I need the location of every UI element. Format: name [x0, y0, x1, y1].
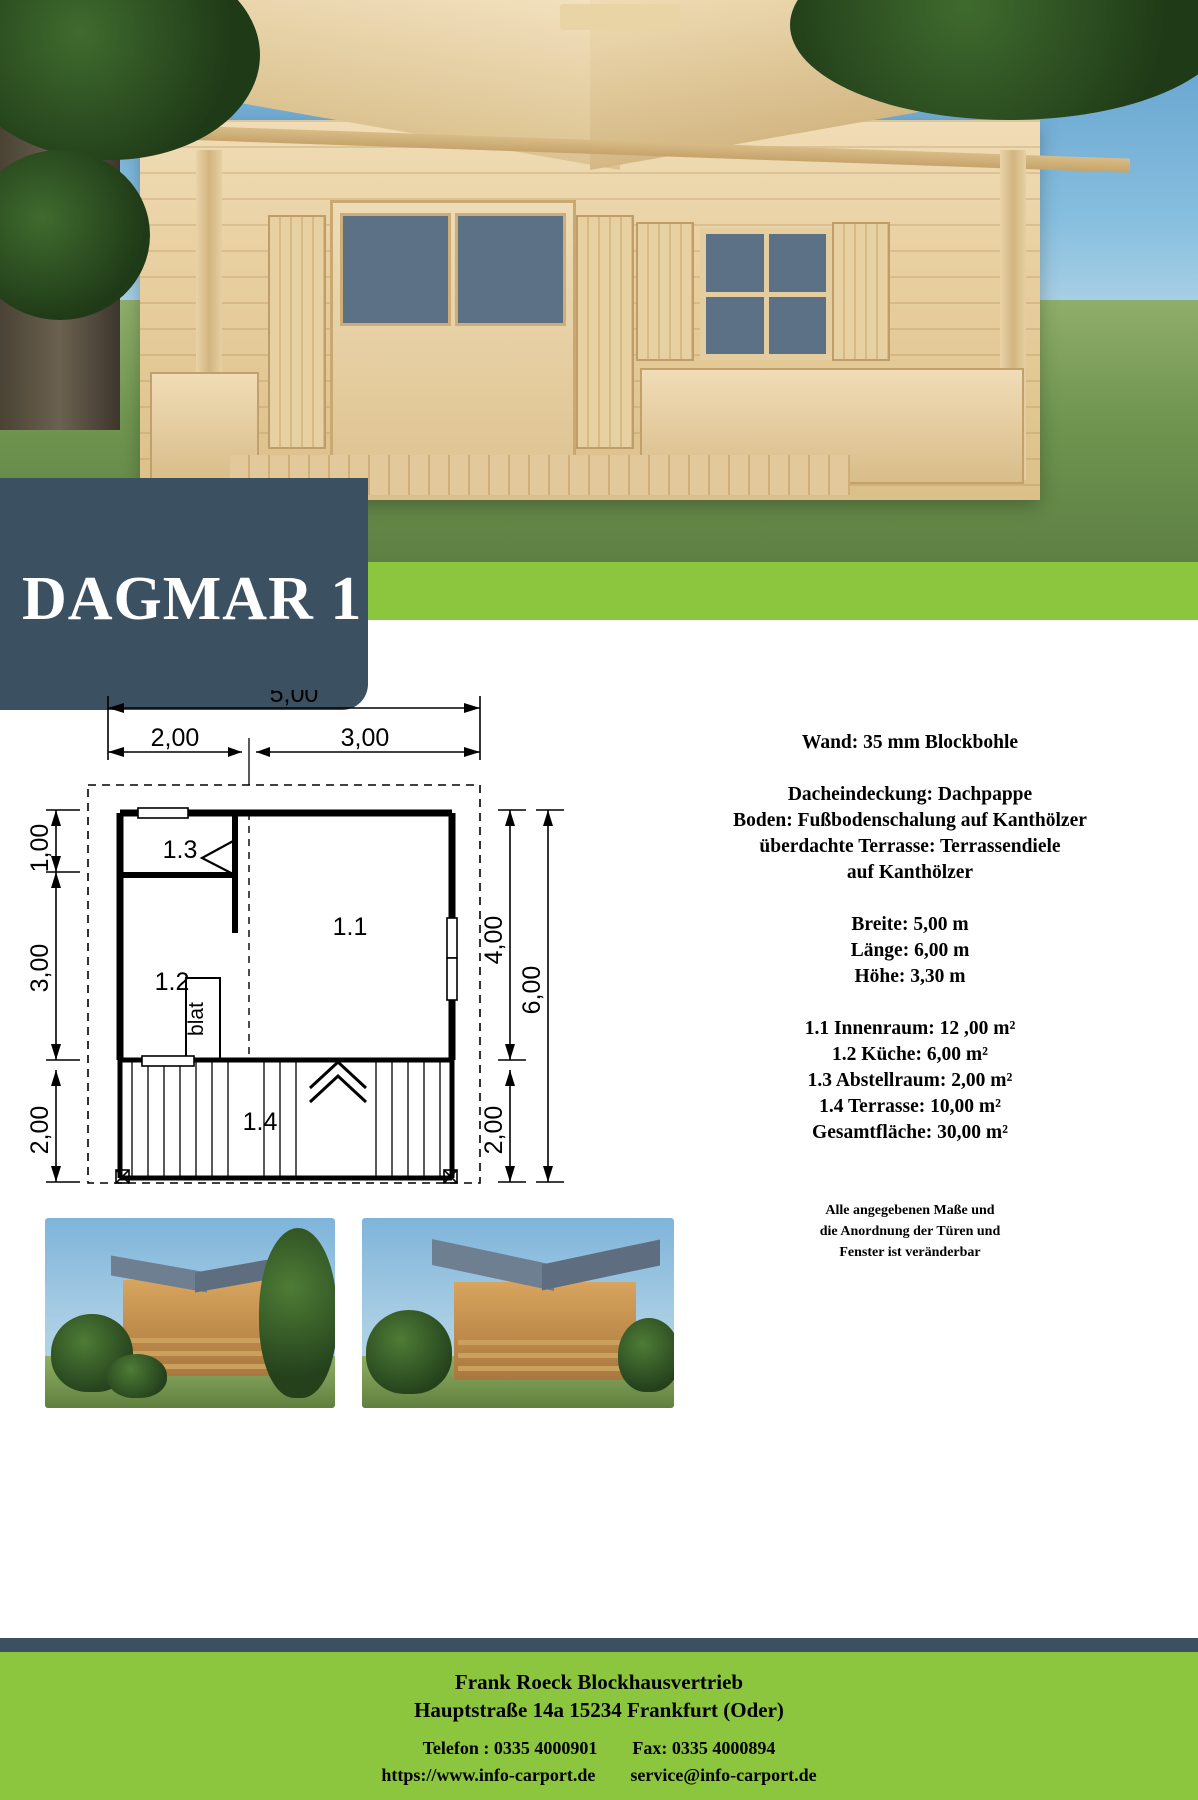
spec-total-area: Gesamtfläche: 30,00 m² — [640, 1120, 1180, 1146]
dim-right-terrace: 2,00 — [480, 1106, 508, 1155]
room-label-1-1: 1.1 — [333, 913, 368, 941]
thumb1-hedge — [259, 1228, 335, 1398]
door-shutter-left — [268, 215, 326, 449]
window-shutter-right — [832, 222, 890, 361]
dim-right-overall: 6,00 — [518, 966, 546, 1015]
spec-room-1-1: 1.1 Innenraum: 12 ,00 m² — [640, 1016, 1180, 1042]
spec-length: Länge: 6,00 m — [640, 938, 1180, 964]
spec-room-1-3: 1.3 Abstellraum: 2,00 m² — [640, 1068, 1180, 1094]
footer-company: Frank Roeck Blockhausvertrieb — [0, 1670, 1198, 1695]
dim-top-right: 3,00 — [341, 724, 390, 752]
spec-height: Höhe: 3,30 m — [640, 964, 1180, 990]
thumb1-shrub-front — [107, 1354, 167, 1398]
spacer-3 — [640, 990, 1180, 1016]
dim-right-inner: 4,00 — [480, 916, 508, 965]
spec-terrace-line2: auf Kanthölzer — [640, 860, 1180, 886]
double-door — [330, 200, 576, 476]
spec-width: Breite: 5,00 m — [640, 912, 1180, 938]
thumbnail-image-1 — [45, 1218, 335, 1408]
footer-phone: Telefon : 0335 4000901 — [423, 1738, 598, 1758]
footer-email[interactable]: service@info-carport.de — [630, 1765, 816, 1785]
footer-phone-row: Telefon : 0335 4000901 Fax: 0335 4000894 — [0, 1738, 1198, 1759]
dim-top-left: 2,00 — [151, 724, 200, 752]
footer-contact: Frank Roeck Blockhausvertrieb Hauptstraß… — [0, 1652, 1198, 1800]
thumb2-railing — [458, 1340, 634, 1376]
dim-left-lower: 2,00 — [26, 1106, 54, 1155]
door-shutter-right — [576, 215, 634, 449]
room-label-1-2: 1.2 — [155, 968, 190, 996]
spec-floor: Boden: Fußbodenschalung auf Kanthölzer — [640, 808, 1180, 834]
spec-room-1-2: 1.2 Küche: 6,00 m² — [640, 1042, 1180, 1068]
dim-top-overall: 5,00 — [270, 690, 319, 708]
room-label-1-4: 1.4 — [243, 1108, 278, 1136]
page-title: DAGMAR 1 — [22, 564, 362, 635]
specifications-panel: Wand: 35 mm Blockbohle Dacheindeckung: D… — [640, 730, 1180, 1263]
footer-fax: Fax: 0335 4000894 — [632, 1738, 775, 1758]
thumb2-shrub-right — [618, 1318, 674, 1392]
spec-roof-covering: Dacheindeckung: Dachpappe — [640, 782, 1180, 808]
floor-plan: 5,00 2,00 3,00 1,00 3,00 2,00 4,00 2,00 … — [20, 690, 620, 1210]
thumb2-shrub-left — [366, 1310, 452, 1394]
spacer-1 — [640, 756, 1180, 782]
spacer-2 — [640, 886, 1180, 912]
footer-website[interactable]: https://www.info-carport.de — [381, 1765, 595, 1785]
dim-left-middle: 3,00 — [26, 944, 54, 993]
footer-divider — [0, 1638, 1198, 1652]
dim-left-upper: 1,00 — [26, 824, 54, 873]
footer-address: Hauptstraße 14a 15234 Frankfurt (Oder) — [0, 1698, 1198, 1723]
window-shutter-left — [636, 222, 694, 361]
roof-ridge — [560, 4, 680, 30]
room-label-1-3: 1.3 — [163, 836, 198, 864]
title-plate: DAGMAR 1 — [0, 478, 368, 710]
cabin-window — [700, 228, 832, 360]
thumbnail-image-2 — [362, 1218, 674, 1408]
spec-room-1-4: 1.4 Terrasse: 10,00 m² — [640, 1094, 1180, 1120]
spec-wall: Wand: 35 mm Blockbohle — [640, 730, 1180, 756]
counter-label: blat — [185, 1002, 208, 1036]
spec-terrace-line1: überdachte Terrasse: Terrassendiele — [640, 834, 1180, 860]
footer-web-row: https://www.info-carport.de service@info… — [0, 1765, 1198, 1786]
thumbnail-gallery — [0, 1218, 1198, 1408]
